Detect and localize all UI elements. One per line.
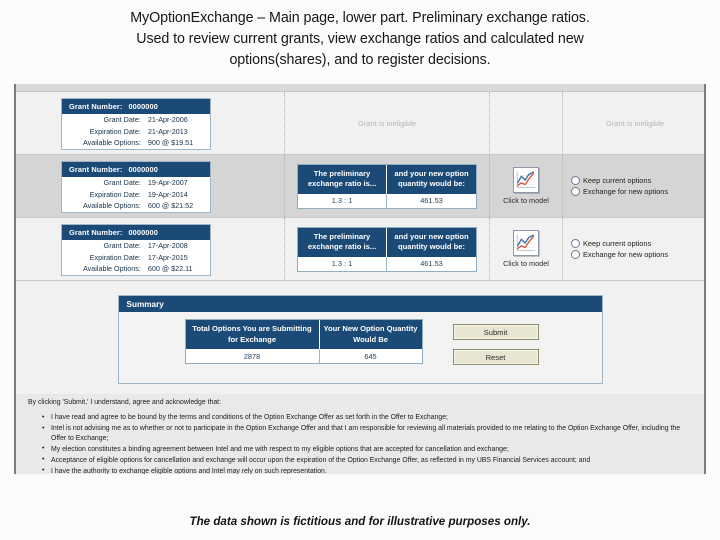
summary-buttons: Submit Reset	[453, 319, 539, 374]
expiration-date-row: Expiration Date:19-Apr-2014	[62, 189, 210, 201]
legal-bullet-item: I have read and agree to be bound by the…	[42, 413, 692, 423]
click-to-model-label[interactable]: Click to model	[503, 259, 549, 268]
slide-title-line-1: MyOptionExchange – Main page, lower part…	[0, 8, 720, 29]
grant-row: Grant Number:0000000Grant Date:17-Apr-20…	[16, 218, 704, 281]
radio-icon[interactable]	[571, 187, 580, 196]
summary-table-wrapper: Total Options You are Submitting for Exc…	[185, 319, 423, 364]
grant-card-table: Grant Date:21-Apr-2006Expiration Date:21…	[62, 114, 210, 149]
exchange-ratio-value-row: 1.3 : 1461.53	[298, 257, 476, 271]
exchange-ratio-value: 1.3 : 1	[298, 257, 387, 271]
legal-bullet-list: I have read and agree to be bound by the…	[28, 413, 692, 474]
grant-card-table: Grant Date:19-Apr-2007Expiration Date:19…	[62, 177, 210, 212]
decision-radio-group: Keep current optionsExchange for new opt…	[563, 175, 668, 198]
slide-caption: The data shown is fictitious and for ill…	[0, 515, 720, 528]
click-to-model-label[interactable]: Click to model	[503, 196, 549, 205]
exchange-ratio-panel: The preliminary exchange ratio is...and …	[297, 227, 477, 272]
summary-body: Total Options You are Submitting for Exc…	[119, 312, 602, 383]
grant-row: Grant Number:0000000Grant Date:21-Apr-20…	[16, 92, 704, 155]
grant-card: Grant Number:0000000Grant Date:21-Apr-20…	[61, 98, 211, 150]
summary-col2-value: 645	[320, 349, 422, 363]
grant-date-value: 17-Apr-2008	[148, 240, 210, 252]
exchange-ratio-value-row: 1.3 : 1461.53	[298, 194, 476, 208]
grant-card-table: Grant Date:17-Apr-2008Expiration Date:17…	[62, 240, 210, 275]
slide-title: MyOptionExchange – Main page, lower part…	[0, 8, 720, 71]
exchange-ratio-header-row: The preliminary exchange ratio is...and …	[298, 228, 476, 257]
exchange-for-new-options-label: Exchange for new options	[583, 187, 668, 196]
available-options-row: Available Options:600 @ $21.52	[62, 200, 210, 212]
radio-icon[interactable]	[571, 239, 580, 248]
exchange-ratio-value: 1.3 : 1	[298, 194, 387, 208]
grant-ineligible-note: Grant is ineligible	[285, 119, 489, 128]
grant-rows-container: Grant Number:0000000Grant Date:21-Apr-20…	[16, 92, 704, 281]
grant-date-row: Grant Date:19-Apr-2007	[62, 177, 210, 189]
radio-icon[interactable]	[571, 176, 580, 185]
summary-col2-header: Your New Option Quantity Would Be	[320, 320, 422, 349]
keep-current-options-label: Keep current options	[583, 239, 651, 248]
new-quantity-header: and your new option quantity would be:	[387, 228, 476, 257]
legal-intro-text: By clicking 'Submit,' I understand, agre…	[28, 399, 692, 406]
expiration-date-value: 17-Apr-2015	[148, 252, 210, 264]
keep-current-options-option[interactable]: Keep current options	[571, 239, 668, 248]
available-options-row: Available Options:600 @ $22.11	[62, 263, 210, 275]
grant-details-cell: Grant Number:0000000Grant Date:19-Apr-20…	[16, 155, 284, 217]
screenshot-top-strip	[16, 84, 704, 92]
reset-button[interactable]: Reset	[453, 349, 539, 365]
legal-bullet-item: Intel is not advising me as to whether o…	[42, 424, 692, 443]
keep-current-options-label: Keep current options	[583, 176, 651, 185]
legal-bullet-item: I have the authority to exchange eligibl…	[42, 467, 692, 474]
slide-canvas: MyOptionExchange – Main page, lower part…	[0, 0, 720, 540]
slide-title-line-3: options(shares), and to register decisio…	[0, 50, 720, 71]
available-options-value: 900 @ $19.51	[148, 137, 210, 149]
expiration-date-label: Expiration Date:	[62, 126, 148, 138]
available-options-value: 600 @ $22.11	[148, 263, 210, 275]
new-quantity-value: 461.53	[387, 257, 476, 271]
exchange-for-new-options-option[interactable]: Exchange for new options	[571, 187, 668, 196]
summary-section: Summary Total Options You are Submitting…	[16, 281, 704, 394]
summary-table: Total Options You are Submitting for Exc…	[185, 319, 423, 364]
available-options-label: Available Options:	[62, 263, 148, 275]
exchange-ratio-header: The preliminary exchange ratio is...	[298, 165, 387, 194]
exchange-for-new-options-label: Exchange for new options	[583, 250, 668, 259]
grant-row: Grant Number:0000000Grant Date:19-Apr-20…	[16, 155, 704, 218]
submit-button[interactable]: Submit	[453, 324, 539, 340]
grant-number-label: Grant Number:	[69, 102, 122, 111]
grant-details-cell: Grant Number:0000000Grant Date:21-Apr-20…	[16, 92, 284, 154]
grant-date-value: 21-Apr-2006	[148, 114, 210, 126]
expiration-date-row: Expiration Date:17-Apr-2015	[62, 252, 210, 264]
grant-date-label: Grant Date:	[62, 177, 148, 189]
available-options-row: Available Options:900 @ $19.51	[62, 137, 210, 149]
available-options-label: Available Options:	[62, 200, 148, 212]
summary-table-value-row: 2878 645	[186, 349, 422, 363]
legal-acknowledgement-section: By clicking 'Submit,' I understand, agre…	[16, 394, 704, 474]
model-cell	[489, 92, 562, 154]
slide-title-line-2: Used to review current grants, view exch…	[0, 29, 720, 50]
keep-current-options-option[interactable]: Keep current options	[571, 176, 668, 185]
application-screenshot: Grant Number:0000000Grant Date:21-Apr-20…	[14, 84, 706, 474]
expiration-date-row: Expiration Date:21-Apr-2013	[62, 126, 210, 138]
summary-col1-value: 2878	[186, 349, 320, 363]
summary-table-header-row: Total Options You are Submitting for Exc…	[186, 320, 422, 349]
line-chart-icon[interactable]	[513, 167, 539, 193]
expiration-date-label: Expiration Date:	[62, 252, 148, 264]
model-cell: Click to model	[489, 155, 562, 217]
grant-card: Grant Number:0000000Grant Date:17-Apr-20…	[61, 224, 211, 276]
grant-date-value: 19-Apr-2007	[148, 177, 210, 189]
exchange-ratio-header-row: The preliminary exchange ratio is...and …	[298, 165, 476, 194]
grant-ineligible-note: Grant is ineligible	[563, 119, 706, 128]
grant-card-header: Grant Number:0000000	[62, 225, 210, 240]
legal-bullet-item: My election constitutes a binding agreem…	[42, 445, 692, 455]
summary-title: Summary	[119, 296, 602, 312]
legal-bullet-item: Acceptance of eligible options for cance…	[42, 456, 692, 466]
decision-cell: Keep current optionsExchange for new opt…	[562, 155, 706, 217]
grant-number-value: 0000000	[128, 165, 157, 174]
summary-col1-header: Total Options You are Submitting for Exc…	[186, 320, 320, 349]
decision-cell: Keep current optionsExchange for new opt…	[562, 218, 706, 280]
available-options-label: Available Options:	[62, 137, 148, 149]
available-options-value: 600 @ $21.52	[148, 200, 210, 212]
exchange-ratio-cell: Grant is ineligible	[284, 92, 489, 154]
grant-number-value: 0000000	[128, 102, 157, 111]
exchange-ratio-cell: The preliminary exchange ratio is...and …	[284, 218, 489, 280]
new-quantity-value: 461.53	[387, 194, 476, 208]
grant-date-row: Grant Date:17-Apr-2008	[62, 240, 210, 252]
exchange-for-new-options-option[interactable]: Exchange for new options	[571, 250, 668, 259]
grant-number-value: 0000000	[128, 228, 157, 237]
radio-icon[interactable]	[571, 250, 580, 259]
grant-card-header: Grant Number:0000000	[62, 99, 210, 114]
model-cell: Click to model	[489, 218, 562, 280]
grant-date-label: Grant Date:	[62, 114, 148, 126]
line-chart-icon[interactable]	[513, 230, 539, 256]
expiration-date-label: Expiration Date:	[62, 189, 148, 201]
grant-card: Grant Number:0000000Grant Date:19-Apr-20…	[61, 161, 211, 213]
grant-details-cell: Grant Number:0000000Grant Date:17-Apr-20…	[16, 218, 284, 280]
grant-date-row: Grant Date:21-Apr-2006	[62, 114, 210, 126]
grant-number-label: Grant Number:	[69, 228, 122, 237]
expiration-date-value: 19-Apr-2014	[148, 189, 210, 201]
decision-cell: Grant is ineligible	[562, 92, 706, 154]
new-quantity-header: and your new option quantity would be:	[387, 165, 476, 194]
expiration-date-value: 21-Apr-2013	[148, 126, 210, 138]
exchange-ratio-panel: The preliminary exchange ratio is...and …	[297, 164, 477, 209]
grant-date-label: Grant Date:	[62, 240, 148, 252]
grant-number-label: Grant Number:	[69, 165, 122, 174]
exchange-ratio-cell: The preliminary exchange ratio is...and …	[284, 155, 489, 217]
summary-panel: Summary Total Options You are Submitting…	[118, 295, 603, 384]
exchange-ratio-header: The preliminary exchange ratio is...	[298, 228, 387, 257]
decision-radio-group: Keep current optionsExchange for new opt…	[563, 238, 668, 261]
grant-card-header: Grant Number:0000000	[62, 162, 210, 177]
